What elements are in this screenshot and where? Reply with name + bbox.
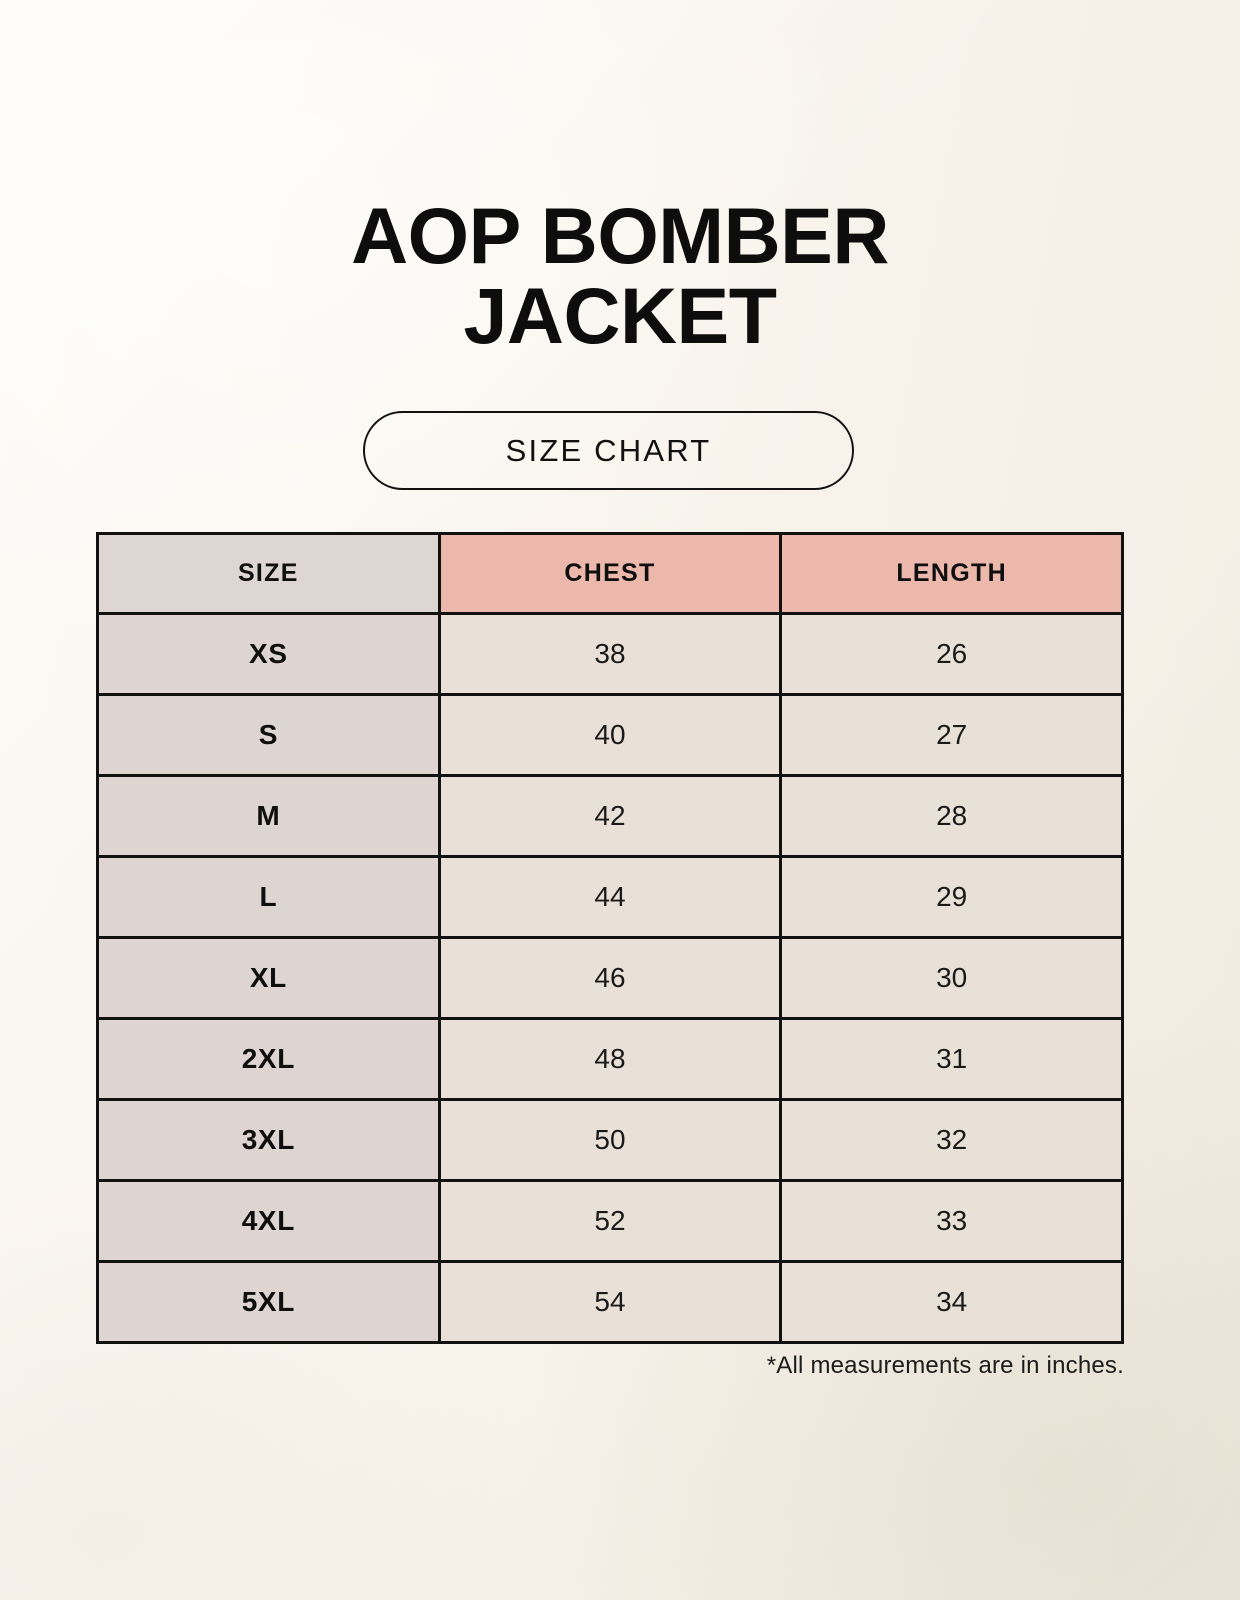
table-row: 5XL 54 34 xyxy=(98,1262,1123,1343)
cell-chest: 54 xyxy=(439,1262,781,1343)
cell-length: 30 xyxy=(781,938,1123,1019)
cell-length: 29 xyxy=(781,857,1123,938)
table-header: SIZE CHEST LENGTH xyxy=(98,534,1123,614)
table-header-row: SIZE CHEST LENGTH xyxy=(98,534,1123,614)
table-row: S 40 27 xyxy=(98,695,1123,776)
cell-length: 27 xyxy=(781,695,1123,776)
table-row: XL 46 30 xyxy=(98,938,1123,1019)
cell-size: XS xyxy=(98,614,440,695)
table-row: XS 38 26 xyxy=(98,614,1123,695)
cell-chest: 48 xyxy=(439,1019,781,1100)
cell-size: 3XL xyxy=(98,1100,440,1181)
cell-size: S xyxy=(98,695,440,776)
cell-length: 32 xyxy=(781,1100,1123,1181)
cell-length: 31 xyxy=(781,1019,1123,1100)
cell-chest: 44 xyxy=(439,857,781,938)
column-header-length: LENGTH xyxy=(781,534,1123,614)
column-header-chest: CHEST xyxy=(439,534,781,614)
size-chart-table: SIZE CHEST LENGTH XS 38 26 S 40 27 M 42 … xyxy=(96,532,1124,1344)
table-body: XS 38 26 S 40 27 M 42 28 L 44 29 XL 46 xyxy=(98,614,1123,1343)
measurements-footnote: *All measurements are in inches. xyxy=(96,1352,1124,1380)
table-row: 4XL 52 33 xyxy=(98,1181,1123,1262)
cell-length: 33 xyxy=(781,1181,1123,1262)
size-chart-badge-label: SIZE CHART xyxy=(506,433,712,469)
cell-size: 4XL xyxy=(98,1181,440,1262)
table-row: M 42 28 xyxy=(98,776,1123,857)
cell-length: 34 xyxy=(781,1262,1123,1343)
cell-chest: 42 xyxy=(439,776,781,857)
page-title: AOP BOMBER JACKET xyxy=(0,196,1240,356)
cell-chest: 52 xyxy=(439,1181,781,1262)
table-row: 3XL 50 32 xyxy=(98,1100,1123,1181)
cell-chest: 46 xyxy=(439,938,781,1019)
cell-chest: 50 xyxy=(439,1100,781,1181)
cell-size: M xyxy=(98,776,440,857)
cell-chest: 38 xyxy=(439,614,781,695)
cell-length: 26 xyxy=(781,614,1123,695)
cell-length: 28 xyxy=(781,776,1123,857)
size-chart-page: AOP BOMBER JACKET SIZE CHART SIZE CHEST … xyxy=(0,0,1240,1600)
size-chart-badge: SIZE CHART xyxy=(363,411,854,490)
cell-size: L xyxy=(98,857,440,938)
cell-size: 2XL xyxy=(98,1019,440,1100)
cell-size: XL xyxy=(98,938,440,1019)
column-header-size: SIZE xyxy=(98,534,440,614)
table-row: 2XL 48 31 xyxy=(98,1019,1123,1100)
cell-chest: 40 xyxy=(439,695,781,776)
cell-size: 5XL xyxy=(98,1262,440,1343)
table-row: L 44 29 xyxy=(98,857,1123,938)
